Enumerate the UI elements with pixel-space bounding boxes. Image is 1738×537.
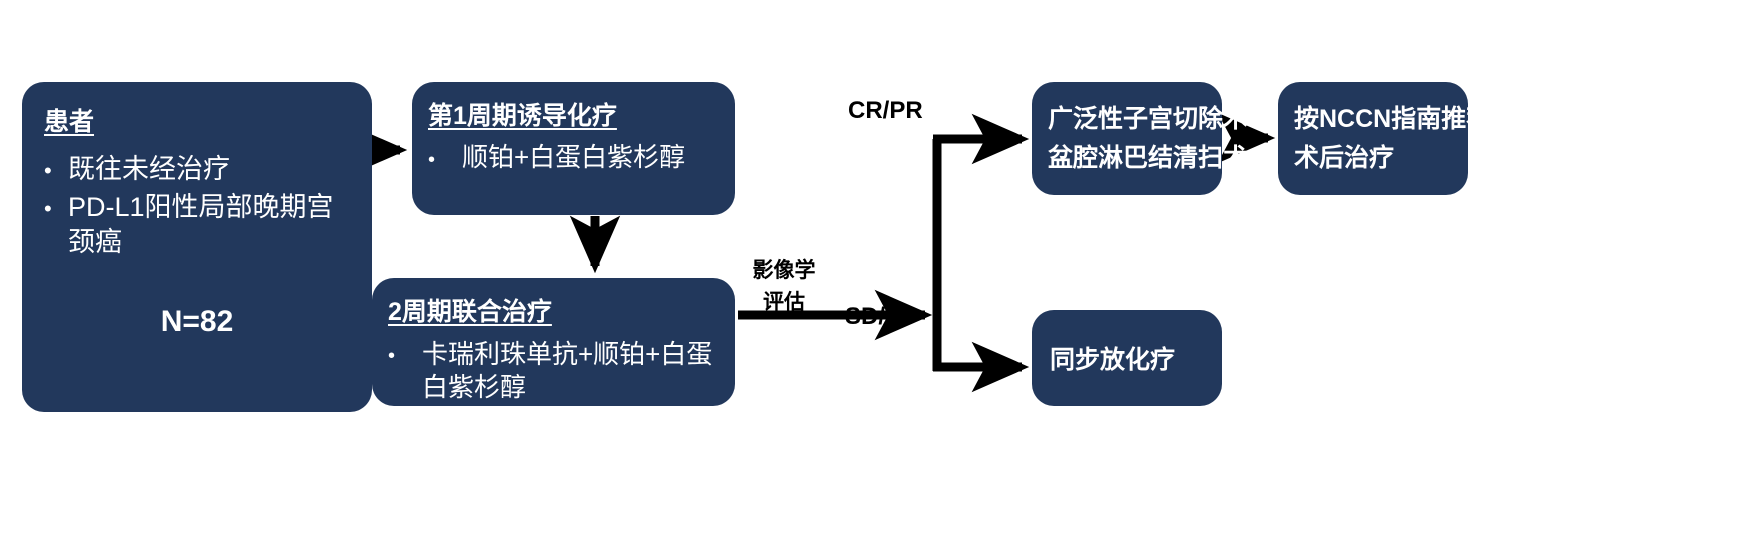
- edge-label-sd-pd: SD/PD: [845, 303, 918, 331]
- bullet-text: 顺铂+白蛋白紫杉醇: [462, 142, 719, 173]
- bullet-text: 既往未经治疗: [68, 152, 350, 188]
- node-patients[interactable]: 患者 • 既往未经治疗 • PD-L1阳性局部晚期宫颈癌 N=82: [22, 82, 372, 412]
- node-surgery-line-1: 广泛性子宫切除术+: [1048, 100, 1206, 139]
- node-induction-chemo[interactable]: 第1周期诱导化疗 • 顺铂+白蛋白紫杉醇: [412, 82, 735, 215]
- edge-label-imaging-line-2: 评估: [745, 287, 823, 319]
- node-concurrent-chemoradiotherapy[interactable]: 同步放化疗: [1032, 310, 1222, 406]
- node-combo-title: 2周期联合治疗: [388, 292, 719, 328]
- bullet-marker: •: [44, 190, 68, 220]
- node-combination-therapy[interactable]: 2周期联合治疗 • 卡瑞利珠单抗+顺铂+白蛋白紫杉醇: [372, 278, 735, 406]
- edge-label-imaging-assessment: 影像学 评估: [745, 255, 823, 318]
- flowchart-canvas: 患者 • 既往未经治疗 • PD-L1阳性局部晚期宫颈癌 N=82 第1周期诱导…: [0, 0, 1738, 537]
- node-combo-bullet-1: • 卡瑞利珠单抗+顺铂+白蛋白紫杉醇: [388, 338, 719, 404]
- node-induction-title: 第1周期诱导化疗: [428, 96, 719, 132]
- node-induction-bullet-1: • 顺铂+白蛋白紫杉醇: [428, 142, 719, 173]
- edge-label-cr-pr: CR/PR: [848, 97, 923, 125]
- node-patients-sample-size: N=82: [44, 305, 350, 339]
- node-nccn-adjuvant[interactable]: 按NCCN指南推荐 术后治疗: [1278, 82, 1468, 195]
- node-patients-bullet-2: • PD-L1阳性局部晚期宫颈癌: [44, 190, 350, 261]
- node-patients-bullet-1: • 既往未经治疗: [44, 152, 350, 188]
- node-radical-surgery[interactable]: 广泛性子宫切除术+ 盆腔淋巴结清扫术: [1032, 82, 1222, 195]
- node-nccn-line-2: 术后治疗: [1294, 139, 1452, 178]
- bullet-marker: •: [388, 338, 422, 366]
- edge-label-imaging-line-1: 影像学: [745, 255, 823, 287]
- node-ccrt-line-1: 同步放化疗: [1050, 340, 1175, 376]
- bullet-text: PD-L1阳性局部晚期宫颈癌: [68, 190, 350, 261]
- node-nccn-line-1: 按NCCN指南推荐: [1294, 100, 1452, 139]
- bullet-marker: •: [428, 142, 462, 170]
- bullet-marker: •: [44, 152, 68, 182]
- node-patients-title: 患者: [44, 102, 350, 138]
- bullet-text: 卡瑞利珠单抗+顺铂+白蛋白紫杉醇: [422, 338, 719, 404]
- node-surgery-line-2: 盆腔淋巴结清扫术: [1048, 139, 1206, 178]
